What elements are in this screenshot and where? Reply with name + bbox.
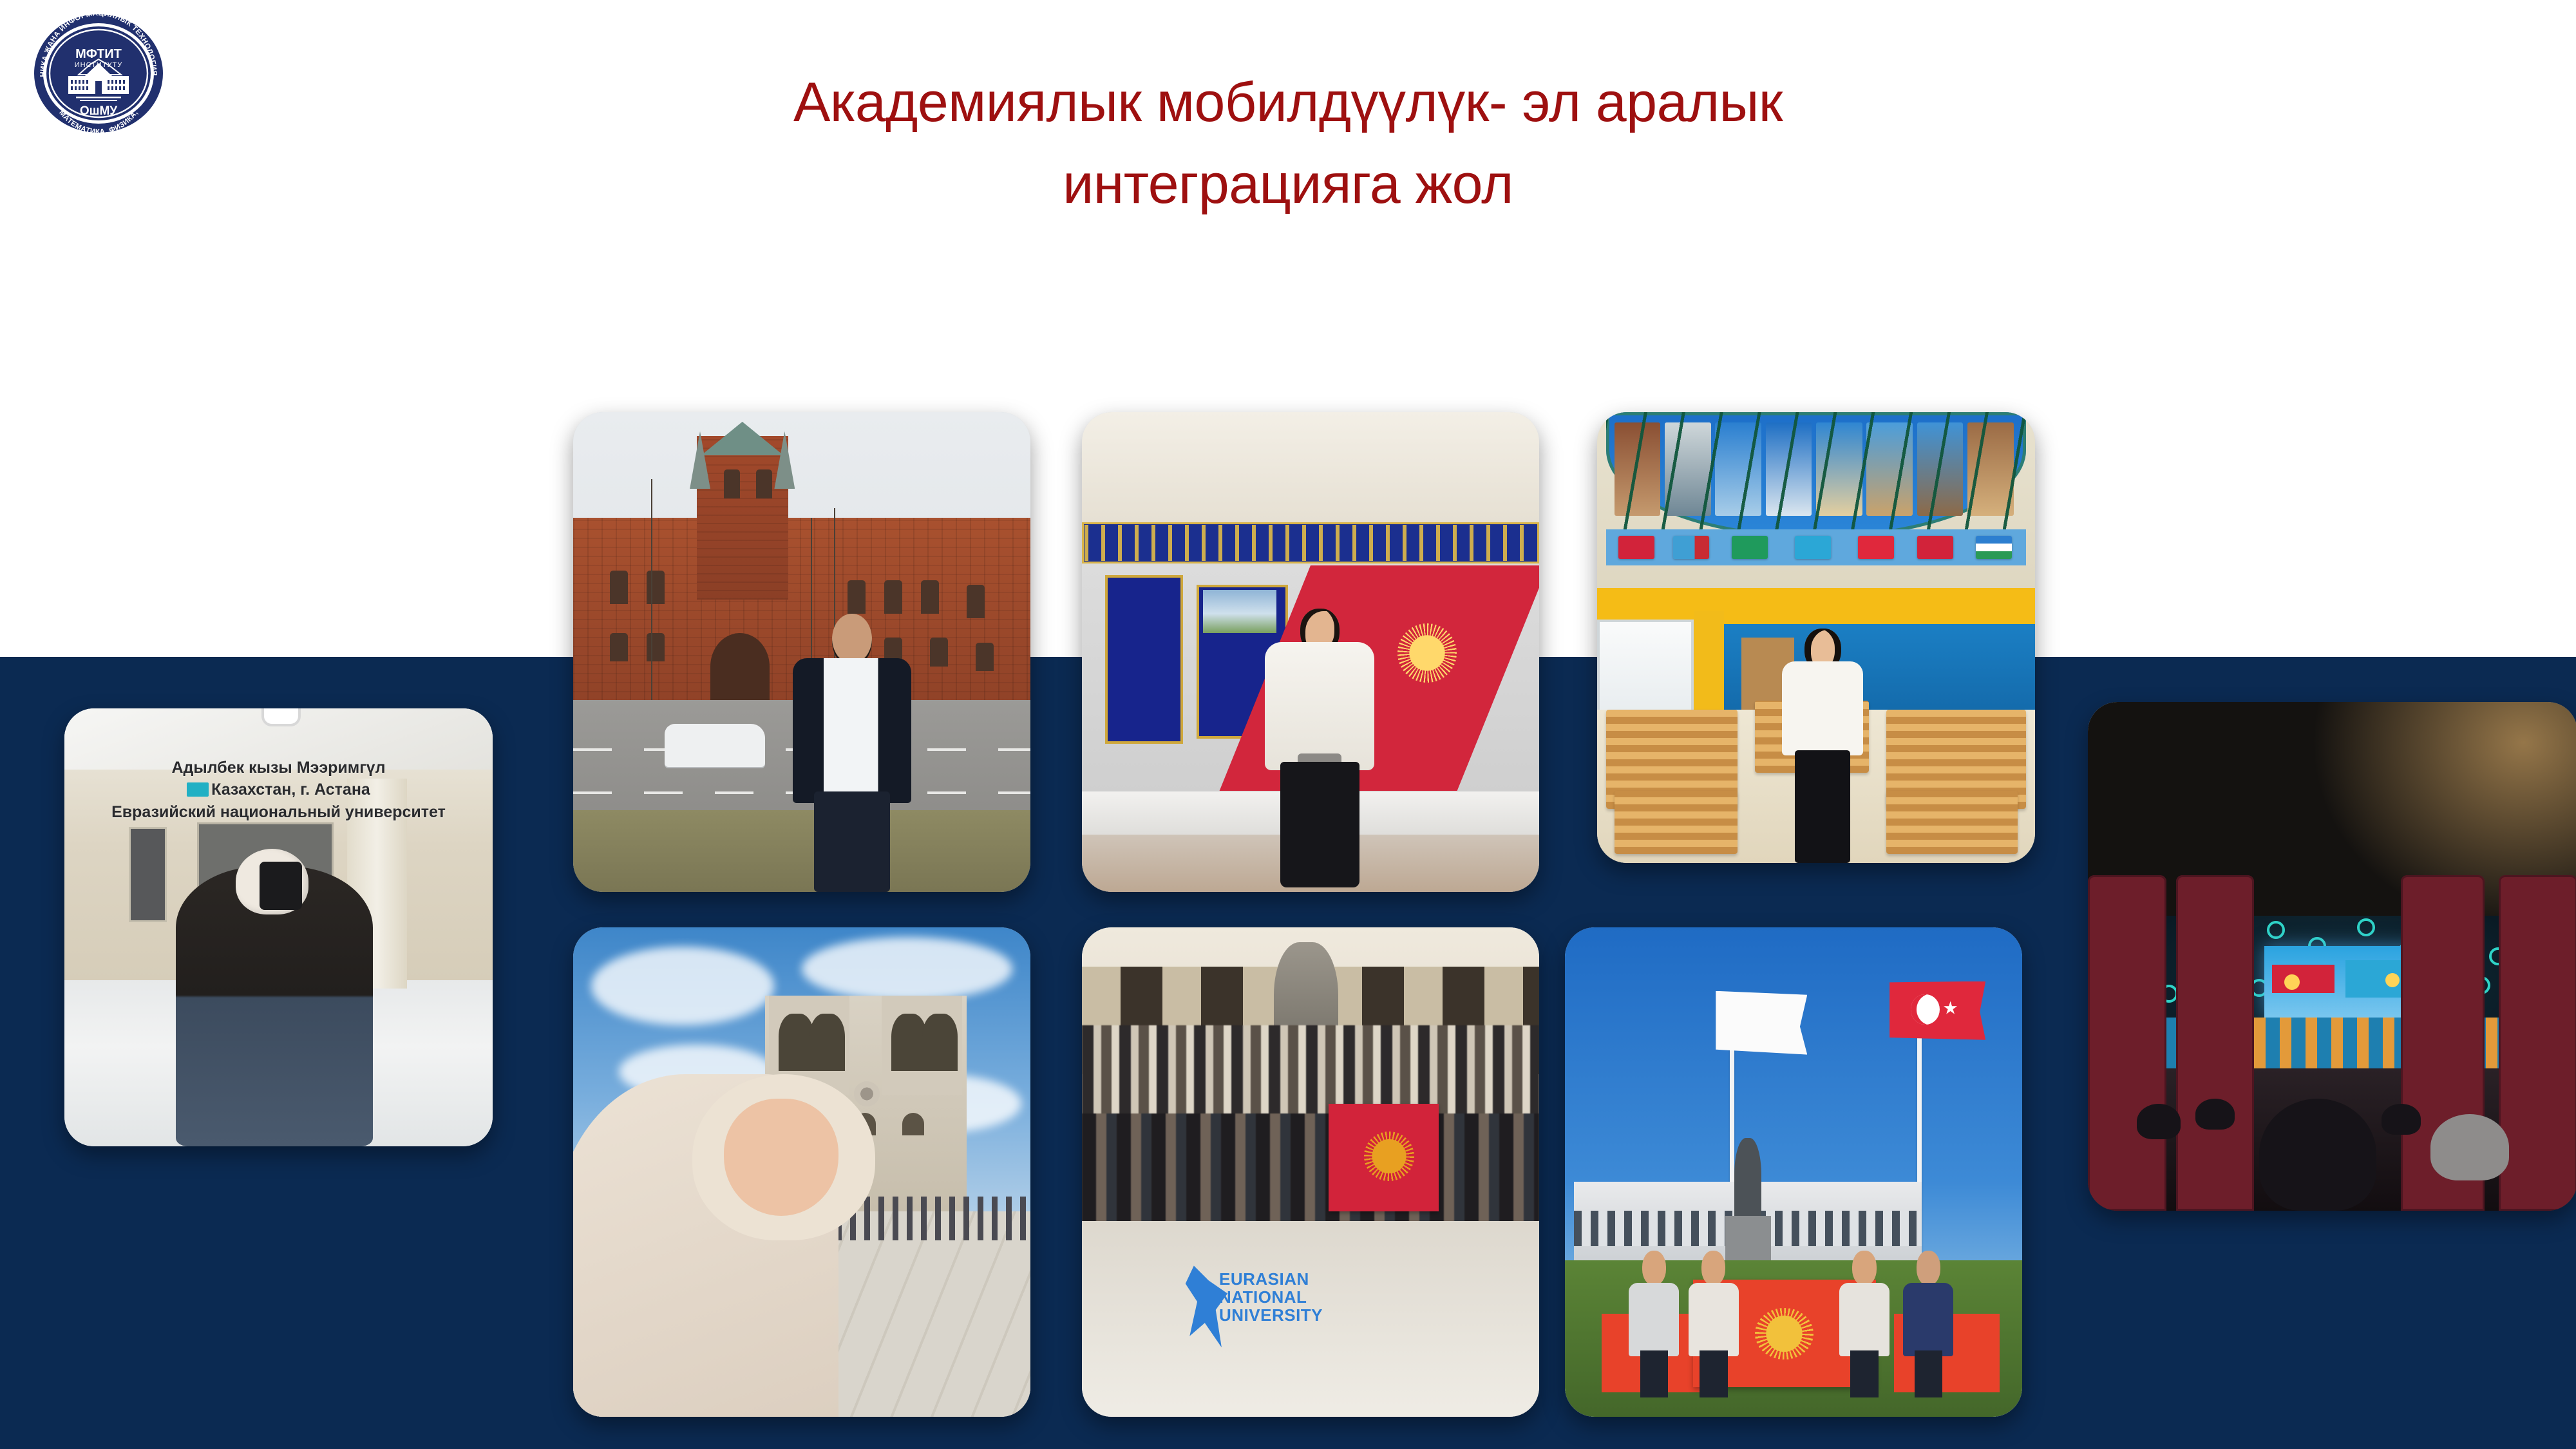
slide-title: Академиялык мобилдүүлүк- эл аралык интег… (489, 62, 2087, 226)
white-flag-icon (1716, 991, 1807, 1055)
eurasian-national-university-watermark: EURASIAN NATIONAL UNIVERSITY (1219, 1270, 1430, 1378)
photo-turkic-atrium[interactable] (1597, 412, 2035, 863)
photo-astana-enu-selfie[interactable]: Адылбек кызы Мээримгүл Казахстан, г. Аст… (64, 708, 493, 1146)
caption-city: Казахстан, г. Астана (211, 781, 370, 799)
watermark-line-1: EURASIAN (1219, 1270, 1430, 1288)
kyrgyz-ornament-band (1082, 522, 1539, 563)
kazakhstan-flag-icon (187, 782, 209, 797)
photo-group-eurasian-national-university[interactable]: EURASIAN NATIONAL UNIVERSITY (1082, 927, 1539, 1417)
caption-student-name: Адылбек кызы Мээримгүл (90, 757, 467, 779)
photo-red-brick-university[interactable] (573, 412, 1030, 892)
photo-kyrgyz-flag-hall[interactable] (1082, 412, 1539, 892)
watermark-line-2: NATIONAL (1219, 1288, 1430, 1306)
azerbaijan-flag-icon (1673, 536, 1709, 559)
kyrgyz-sun-emblem-icon (1397, 623, 1457, 683)
phone-notch-icon (261, 708, 301, 726)
caption-university: Евразийский национальный университет (90, 801, 467, 824)
photo-caption-overlay: Адылбек кызы Мээримгүл Казахстан, г. Аст… (90, 757, 467, 824)
kyrgyzstan-flag-icon-2 (1917, 536, 1953, 559)
presentation-slide: ТЕХНИКА ЖАНА ИНФОРМАЦИЯЛЫК ТЕХНОЛОГИЯЛАР… (0, 0, 2576, 1449)
turkmenistan-flag-icon (1732, 536, 1768, 559)
oshmu-mftit-logo: ТЕХНИКА ЖАНА ИНФОРМАЦИЯЛЫК ТЕХНОЛОГИЯЛАР… (31, 12, 166, 135)
kyrgyzstan-flag-icon (1329, 1104, 1438, 1211)
kyrgyzstan-flag-icon (2272, 965, 2334, 993)
photo-turkish-campus-flags[interactable] (1565, 927, 2022, 1417)
turkey-flag-icon (1858, 536, 1894, 559)
watermark-line-3: UNIVERSITY (1219, 1306, 1430, 1324)
kazakhstan-flag-icon (1795, 536, 1831, 559)
uzbekistan-flag-icon (1976, 536, 2012, 559)
photo-notre-dame-selfie[interactable] (573, 927, 1030, 1417)
svg-text:ОшМУ: ОшМУ (80, 104, 117, 118)
stage-led-screen (2264, 946, 2421, 1018)
turkey-flag-icon (1889, 981, 1985, 1040)
photo-conference-auditorium[interactable] (2088, 702, 2576, 1211)
kyrgyzstan-flag-icon (1618, 536, 1654, 559)
